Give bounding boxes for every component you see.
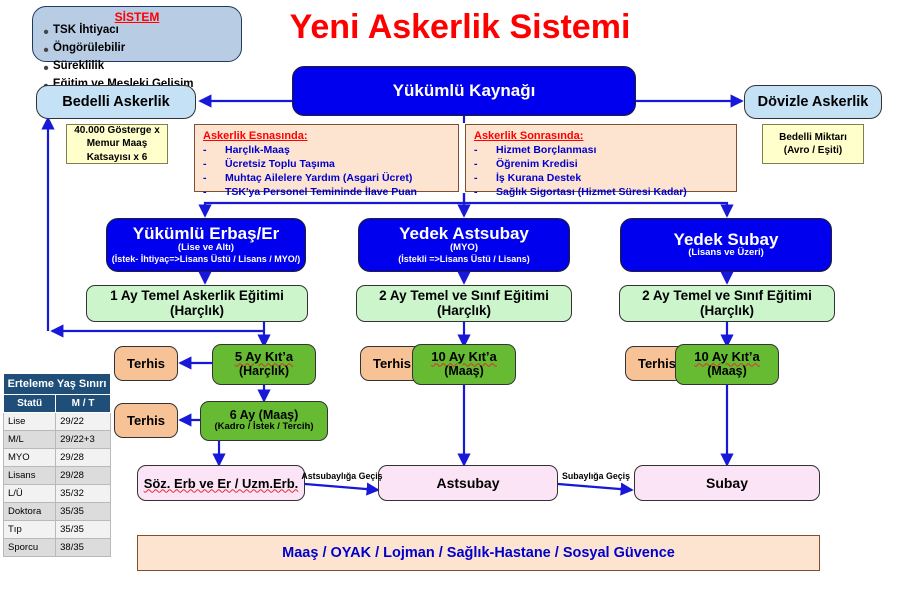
role-label: Yükümlü Erbaş/Er (133, 225, 279, 243)
age-table-col-status: Statü (4, 395, 56, 413)
benefits-bar-label: Maaş / OYAK / Lojman / Sağlık-Hastane / … (282, 545, 675, 561)
duty-line-2: (Maaş) (707, 365, 747, 379)
duty-line-2: (Maaş) (444, 365, 484, 379)
option-dovizle-label: Dövizle Askerlik (758, 94, 869, 110)
role-box-erbas-er[interactable]: Yükümlü Erbaş/Er (Lise ve Altı) (İstek- … (106, 218, 306, 272)
training-box-subay[interactable]: 2 Ay Temel ve Sınıf Eğitimi (Harçlık) (619, 285, 835, 322)
training-line-2: (Harçlık) (170, 304, 224, 319)
bedelli-amount-note: 40.000 Gösterge x Memur Maaş Katsayısı x… (66, 124, 168, 164)
table-row: Lisans29/28 (4, 467, 111, 485)
role-sub: (MYO) (450, 243, 478, 254)
duty-line-1: 5 Ay Kıt’a (235, 350, 293, 364)
edge-label-astsubay-gecis: Astsubaylığa Geçiş (300, 471, 384, 481)
option-dovizle-askerlik[interactable]: Dövizle Askerlik (744, 85, 882, 119)
after-service-item: -Öğrenim Kredisi (474, 158, 728, 172)
table-row: Lise29/22 (4, 413, 111, 431)
after-service-box: Askerlik Sonrasında: -Hizmet Borçlanması… (465, 124, 737, 192)
option-bedelli-askerlik[interactable]: Bedelli Askerlik (36, 85, 196, 119)
after-service-item: -Hizmet Borçlanması (474, 144, 728, 158)
discharge-label: Terhis (127, 356, 165, 371)
discharge-box-erbas-er[interactable]: Terhis (114, 346, 178, 381)
duty-line-2: (Harçlık) (239, 365, 289, 379)
training-line-1: 2 Ay Temel ve Sınıf Eğitimi (642, 289, 812, 304)
system-box: SİSTEM •TSK İhtiyacı •Öngörülebilir •Sür… (32, 6, 242, 62)
discharge-box-erbas-er-2[interactable]: Terhis (114, 403, 178, 438)
duty-line-1: 10 Ay Kıt’a (431, 350, 497, 364)
after-service-item: -İş Kurana Destek (474, 172, 728, 186)
note-line: 40.000 Gösterge x (74, 124, 160, 138)
age-limit-table: Erteleme Yaş Sınırı Statü M / T Lise29/2… (3, 373, 111, 557)
duty-line-1: 10 Ay Kıt’a (694, 350, 760, 364)
source-box[interactable]: Yükümlü Kaynağı (292, 66, 636, 116)
duty-box-erbas-er[interactable]: 5 Ay Kıt’a (Harçlık) (212, 344, 316, 385)
training-line-1: 1 Ay Temel Askerlik Eğitimi (110, 289, 284, 304)
role-sub: (Lisans ve Üzeri) (688, 248, 764, 259)
extra-duty-box-erbas-er[interactable]: 6 Ay (Maaş) (Kadro / İstek / Tercih) (200, 401, 328, 441)
role-label: Yedek Astsubay (399, 225, 529, 243)
during-service-heading: Askerlik Esnasında: (203, 130, 450, 142)
extra-duty-line-1: 6 Ay (Maaş) (230, 409, 299, 423)
outcome-box-astsubay[interactable]: Astsubay (378, 465, 558, 501)
table-row: Tıp35/35 (4, 521, 111, 539)
extra-duty-line-2: (Kadro / İstek / Tercih) (214, 422, 313, 433)
role-sub2: (İstekli =>Lisans Üstü / Lisans) (398, 254, 530, 264)
outcome-label: Söz. Erb ve Er / Uzm.Erb. (144, 476, 299, 491)
system-item: Süreklilik (53, 60, 104, 72)
training-box-astsubay[interactable]: 2 Ay Temel ve Sınıf Eğitimi (Harçlık) (356, 285, 572, 322)
note-line: Bedelli Miktarı (779, 131, 847, 145)
outcome-label: Astsubay (436, 475, 499, 491)
training-box-erbas-er[interactable]: 1 Ay Temel Askerlik Eğitimi (Harçlık) (86, 285, 308, 322)
system-item: TSK İhtiyacı (53, 24, 119, 36)
discharge-label: Terhis (638, 356, 676, 371)
system-box-heading: SİSTEM (39, 10, 235, 24)
duty-box-subay[interactable]: 10 Ay Kıt’a (Maaş) (675, 344, 779, 385)
during-service-item: -Ücretsiz Toplu Taşıma (203, 158, 450, 172)
role-box-yedek-astsubay[interactable]: Yedek Astsubay (MYO) (İstekli =>Lisans Ü… (358, 218, 570, 272)
outcome-label: Subay (706, 475, 748, 491)
outcome-box-sozlesmeli[interactable]: Söz. Erb ve Er / Uzm.Erb. (137, 465, 305, 501)
diagram-canvas: SİSTEM •TSK İhtiyacı •Öngörülebilir •Sür… (0, 0, 900, 600)
note-line: (Avro / Eşiti) (784, 144, 843, 158)
during-service-item: -TSK'ya Personel Temininde İlave Puan (203, 186, 450, 200)
training-line-2: (Harçlık) (437, 304, 491, 319)
duty-box-astsubay[interactable]: 10 Ay Kıt’a (Maaş) (412, 344, 516, 385)
bullet-icon: • (39, 60, 53, 78)
table-row: Sporcu38/35 (4, 539, 111, 557)
after-service-heading: Askerlik Sonrasında: (474, 130, 728, 142)
note-line: Memur Maaş (87, 137, 148, 151)
benefits-bar: Maaş / OYAK / Lojman / Sağlık-Hastane / … (137, 535, 820, 571)
during-service-box: Askerlik Esnasında: -Harçlık-Maaş -Ücret… (194, 124, 459, 192)
note-line: Katsayısı x 6 (87, 151, 148, 165)
outcome-box-subay[interactable]: Subay (634, 465, 820, 501)
system-item: Öngörülebilir (53, 42, 125, 54)
role-sub2: (İstek- İhtiyaç=>Lisans Üstü / Lisans / … (112, 254, 301, 264)
training-line-1: 2 Ay Temel ve Sınıf Eğitimi (379, 289, 549, 304)
age-table-title: Erteleme Yaş Sınırı (4, 374, 111, 395)
during-service-item: -Harçlık-Maaş (203, 144, 450, 158)
training-line-2: (Harçlık) (700, 304, 754, 319)
age-limit-table-wrapper: Erteleme Yaş Sınırı Statü M / T Lise29/2… (3, 373, 111, 557)
role-box-yedek-subay[interactable]: Yedek Subay (Lisans ve Üzeri) (620, 218, 832, 272)
table-row: L/Ü35/32 (4, 485, 111, 503)
dovizle-amount-note: Bedelli Miktarı (Avro / Eşiti) (762, 124, 864, 164)
table-row: Doktora35/35 (4, 503, 111, 521)
table-row: M/L29/22+3 (4, 431, 111, 449)
discharge-label: Terhis (373, 356, 411, 371)
role-sub: (Lise ve Altı) (178, 243, 234, 254)
discharge-label: Terhis (127, 413, 165, 428)
bullet-icon: • (39, 24, 53, 42)
page-title: Yeni Askerlik Sistemi (250, 8, 670, 47)
source-box-label: Yükümlü Kaynağı (393, 82, 536, 100)
edge-label-subay-gecis: Subaylığa Geçiş (556, 471, 636, 481)
during-service-item: -Muhtaç Ailelere Yardım (Asgari Ücret) (203, 172, 450, 186)
option-bedelli-label: Bedelli Askerlik (62, 94, 169, 110)
role-label: Yedek Subay (674, 231, 779, 249)
bullet-icon: • (39, 42, 53, 60)
after-service-item: -Sağlık Sigortası (Hizmet Süresi Kadar) (474, 186, 728, 200)
table-row: MYO29/28 (4, 449, 111, 467)
age-table-col-mt: M / T (56, 395, 111, 413)
